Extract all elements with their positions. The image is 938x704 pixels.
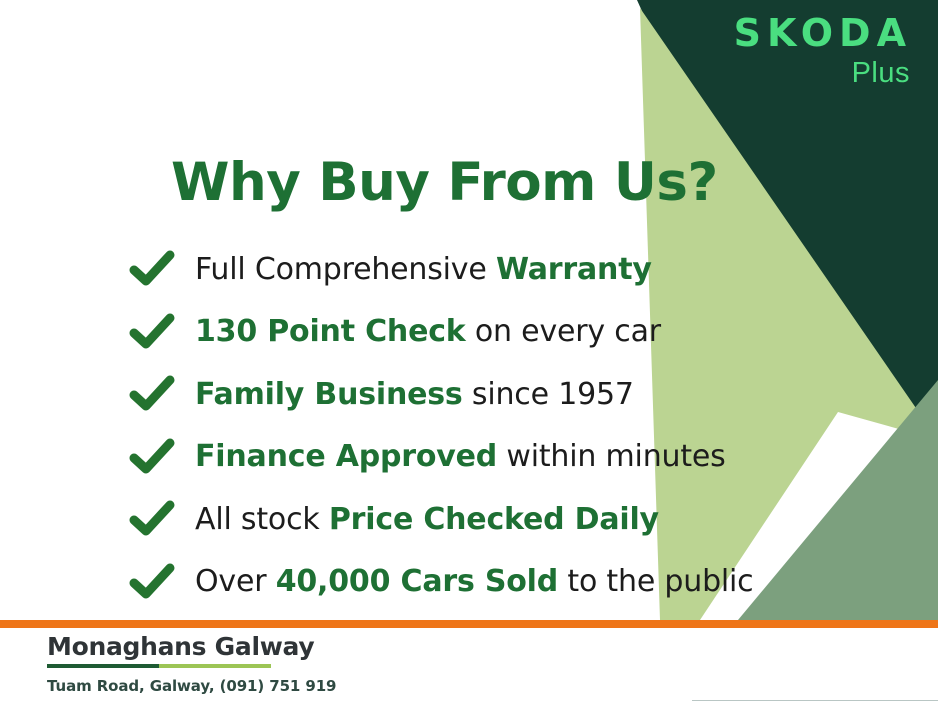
page-title: Why Buy From Us?	[171, 152, 718, 213]
benefit-plain: within minutes	[497, 439, 726, 474]
benefit-item: Full Comprehensive Warranty	[129, 238, 769, 301]
bottom-hairline	[692, 700, 938, 701]
benefit-plain: on every car	[466, 314, 661, 349]
benefit-plain: Full Comprehensive	[195, 252, 496, 287]
check-icon	[129, 437, 175, 477]
benefit-item: 130 Point Check on every car	[129, 301, 769, 364]
orange-divider	[0, 620, 938, 628]
benefit-text: Over 40,000 Cars Sold to the public	[195, 564, 753, 599]
check-icon	[129, 562, 175, 602]
skoda-wordmark: SKODA	[734, 14, 912, 52]
check-icon	[129, 312, 175, 352]
dealer-name-underline	[47, 664, 271, 668]
benefit-highlight: 130 Point Check	[195, 314, 466, 349]
benefit-plain: Over	[195, 564, 276, 599]
dealer-footer: Monaghans Galway Tuam Road, Galway, (091…	[47, 632, 336, 695]
underline-dark-segment	[47, 664, 159, 668]
benefit-text: Finance Approved within minutes	[195, 439, 726, 474]
benefit-item: All stock Price Checked Daily	[129, 488, 769, 551]
benefit-item: Finance Approved within minutes	[129, 426, 769, 489]
benefit-text: Full Comprehensive Warranty	[195, 252, 652, 287]
benefit-highlight: 40,000 Cars Sold	[276, 564, 558, 599]
check-icon	[129, 499, 175, 539]
benefit-highlight: Price Checked Daily	[329, 502, 659, 537]
dealer-address: Tuam Road, Galway, (091) 751 919	[47, 677, 336, 695]
check-icon	[129, 249, 175, 289]
benefits-list: Full Comprehensive Warranty130 Point Che…	[129, 238, 769, 613]
skoda-plus-logo: SKODA Plus	[734, 14, 912, 88]
benefit-highlight: Family Business	[195, 377, 463, 412]
benefit-plain: since 1957	[463, 377, 634, 412]
underline-light-segment	[159, 664, 271, 668]
dealer-name: Monaghans Galway	[47, 632, 336, 661]
benefit-highlight: Warranty	[496, 252, 652, 287]
benefit-plain: to the public	[558, 564, 753, 599]
check-icon	[129, 374, 175, 414]
promo-poster: SKODA Plus Why Buy From Us? Full Compreh…	[0, 0, 938, 704]
skoda-plus-subtext: Plus	[734, 59, 910, 88]
benefit-plain: All stock	[195, 502, 329, 537]
benefit-text: Family Business since 1957	[195, 377, 634, 412]
benefit-highlight: Finance Approved	[195, 439, 497, 474]
benefit-item: Over 40,000 Cars Sold to the public	[129, 551, 769, 614]
benefit-text: 130 Point Check on every car	[195, 314, 661, 349]
benefit-text: All stock Price Checked Daily	[195, 502, 659, 537]
benefit-item: Family Business since 1957	[129, 363, 769, 426]
